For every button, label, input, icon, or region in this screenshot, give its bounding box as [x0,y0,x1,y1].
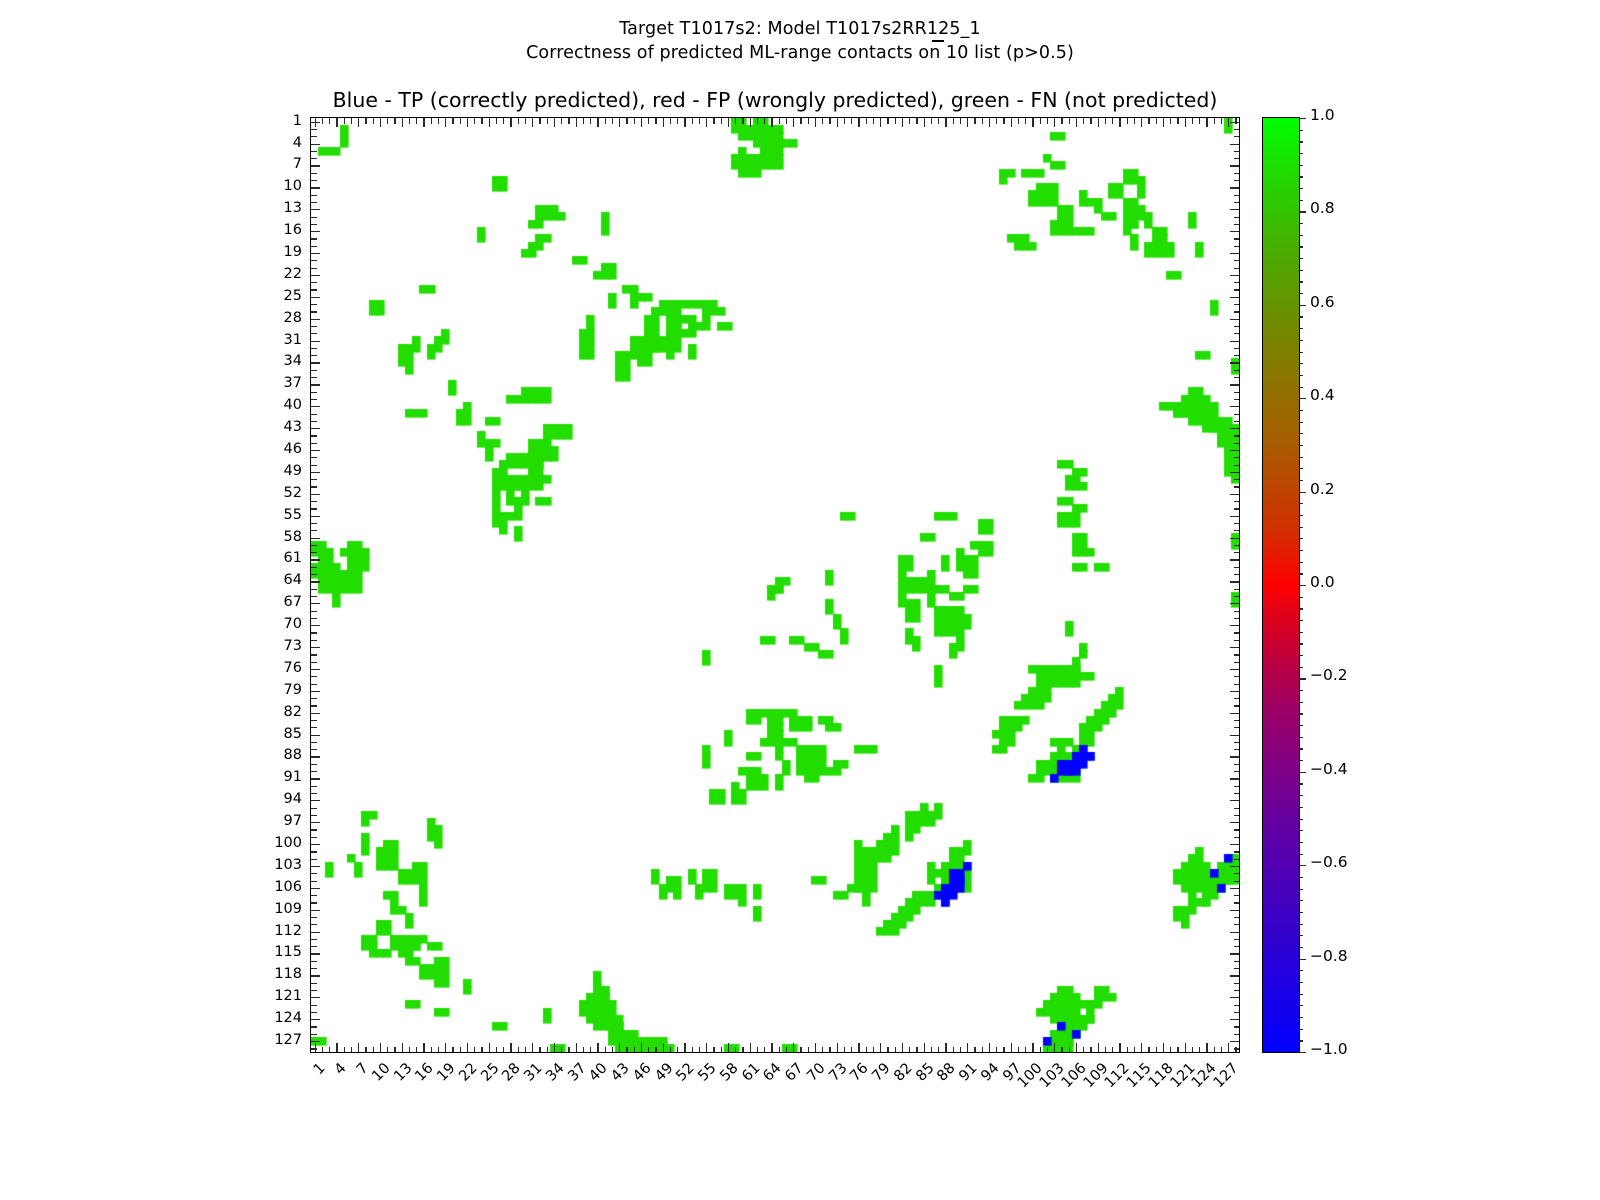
x-tick-top-2 [322,118,323,124]
colorbar-tick-0.2 [1299,492,1306,493]
y-tick-right-99 [1234,837,1240,838]
y-tick-right-42 [1234,421,1240,422]
x-tick-bottom-4 [336,1043,337,1052]
y-tick-right-115 [1230,953,1239,954]
x-tick-bottom-49 [663,1043,664,1052]
y-tick-left-110 [311,917,317,918]
x-tick-bottom-73 [837,1043,838,1052]
y-tick-label-121: 121 [242,989,302,1003]
x-tick-top-3 [329,118,330,124]
x-tick-top-31 [532,118,533,127]
x-tick-top-37 [576,118,577,127]
colorbar-minor-tick [1299,982,1303,983]
colorbar-minor-tick [1299,141,1303,142]
x-tick-top-105 [1069,118,1070,124]
x-tick-bottom-63 [764,1047,765,1053]
x-tick-bottom-6 [351,1047,352,1053]
x-tick-top-122 [1192,118,1193,124]
y-tick-right-38 [1234,392,1240,393]
y-tick-right-127 [1230,1041,1239,1042]
y-tick-left-22 [311,275,320,276]
y-tick-right-118 [1230,975,1239,976]
y-tick-right-83 [1234,720,1240,721]
y-tick-right-57 [1234,530,1240,531]
y-tick-left-81 [311,705,317,706]
x-tick-bottom-106 [1076,1043,1077,1052]
x-tick-bottom-124 [1206,1043,1207,1052]
x-tick-bottom-74 [844,1047,845,1053]
y-tick-right-67 [1230,603,1239,604]
y-tick-right-119 [1234,983,1240,984]
y-tick-right-85 [1230,735,1239,736]
x-tick-bottom-66 [786,1047,787,1053]
x-tick-top-94 [989,118,990,127]
colorbar-minor-tick [1299,363,1303,364]
y-tick-left-18 [311,246,317,247]
y-tick-left-23 [311,282,317,283]
y-tick-label-22: 22 [242,267,302,281]
y-tick-left-99 [311,837,317,838]
y-tick-left-26 [311,304,317,305]
y-tick-right-51 [1234,486,1240,487]
x-tick-top-4 [336,118,337,127]
x-tick-top-109 [1098,118,1099,127]
x-tick-top-41 [605,118,606,124]
x-tick-bottom-35 [561,1047,562,1053]
y-tick-left-60 [311,552,317,553]
y-tick-left-123 [311,1012,317,1013]
y-tick-left-93 [311,793,317,794]
x-tick-top-55 [706,118,707,127]
y-tick-right-89 [1234,764,1240,765]
y-tick-left-25 [311,297,320,298]
y-tick-right-76 [1230,669,1239,670]
contact-map-plot-area[interactable] [310,117,1240,1053]
x-tick-top-7 [358,118,359,127]
colorbar-minor-tick [1299,410,1303,411]
colorbar-minor-tick [1299,935,1303,936]
x-tick-top-36 [568,118,569,124]
y-tick-left-92 [311,786,317,787]
colorbar-minor-tick [1299,877,1303,878]
x-tick-bottom-47 [648,1047,649,1053]
x-tick-bottom-7 [358,1043,359,1052]
colorbar-label-0.8: 0.8 [1310,201,1335,216]
x-tick-top-91 [967,118,968,127]
x-tick-bottom-15 [416,1047,417,1053]
x-tick-bottom-44 [626,1047,627,1053]
y-tick-left-28 [311,319,320,320]
y-tick-left-20 [311,260,317,261]
x-tick-top-10 [380,118,381,127]
y-tick-right-107 [1234,895,1240,896]
y-tick-left-64 [311,581,320,582]
y-tick-left-15 [311,224,317,225]
y-tick-left-16 [311,231,320,232]
y-tick-left-98 [311,829,317,830]
x-tick-top-59 [735,118,736,124]
x-tick-bottom-5 [344,1047,345,1053]
y-tick-label-67: 67 [242,595,302,609]
x-tick-top-111 [1112,118,1113,124]
y-tick-right-72 [1234,640,1240,641]
y-tick-label-46: 46 [242,442,302,456]
x-tick-bottom-51 [677,1047,678,1053]
y-tick-label-52: 52 [242,486,302,500]
x-tick-top-108 [1090,118,1091,124]
y-tick-label-103: 103 [242,858,302,872]
x-tick-top-83 [909,118,910,124]
x-tick-top-78 [873,118,874,124]
x-tick-bottom-121 [1185,1043,1186,1052]
x-tick-bottom-14 [409,1047,410,1053]
x-tick-top-106 [1076,118,1077,127]
y-tick-left-43 [311,428,320,429]
y-tick-left-67 [311,603,320,604]
y-tick-right-110 [1234,917,1240,918]
x-tick-top-34 [554,118,555,127]
y-tick-label-82: 82 [242,705,302,719]
y-tick-left-77 [311,676,317,677]
x-tick-top-81 [895,118,896,124]
x-tick-top-16 [423,118,424,127]
y-tick-right-105 [1234,881,1240,882]
x-tick-top-68 [800,118,801,124]
y-tick-right-62 [1234,567,1240,568]
y-tick-right-65 [1234,589,1240,590]
y-tick-left-30 [311,333,317,334]
x-tick-top-12 [394,118,395,124]
x-tick-top-17 [431,118,432,124]
y-tick-left-75 [311,662,317,663]
y-tick-right-22 [1230,275,1239,276]
y-tick-left-42 [311,421,317,422]
y-tick-right-117 [1234,968,1240,969]
colorbar-minor-tick [1299,550,1303,551]
colorbar-label--0.2: −0.2 [1310,668,1348,683]
y-tick-right-53 [1234,501,1240,502]
y-tick-left-115 [311,953,320,954]
x-tick-bottom-58 [728,1043,729,1052]
y-tick-right-111 [1234,924,1240,925]
y-tick-left-54 [311,508,317,509]
y-tick-left-19 [311,253,320,254]
x-tick-top-75 [851,118,852,124]
colorbar[interactable] [1262,117,1300,1053]
y-tick-right-61 [1230,559,1239,560]
y-tick-left-58 [311,538,320,539]
y-tick-left-41 [311,414,317,415]
x-tick-top-102 [1047,118,1048,124]
colorbar-minor-tick [1299,632,1303,633]
x-tick-bottom-55 [706,1043,707,1052]
y-tick-right-19 [1230,253,1239,254]
x-tick-bottom-102 [1047,1047,1048,1053]
x-tick-top-28 [510,118,511,127]
y-tick-right-29 [1234,326,1240,327]
x-tick-top-118 [1163,118,1164,127]
colorbar-minor-tick [1299,538,1303,539]
y-tick-left-34 [311,362,320,363]
x-tick-bottom-18 [438,1047,439,1053]
colorbar-minor-tick [1299,620,1303,621]
y-tick-right-9 [1234,180,1240,181]
colorbar-minor-tick [1299,900,1303,901]
y-tick-right-98 [1234,829,1240,830]
colorbar-minor-tick [1299,130,1303,131]
y-tick-right-34 [1230,362,1239,363]
x-tick-bottom-42 [612,1047,613,1053]
y-tick-left-59 [311,545,317,546]
colorbar-tick--0.4 [1299,772,1306,773]
x-tick-bottom-101 [1040,1047,1041,1053]
x-tick-bottom-79 [880,1043,881,1052]
x-tick-bottom-83 [909,1047,910,1053]
colorbar-label-0.4: 0.4 [1310,388,1335,403]
y-tick-left-103 [311,866,320,867]
y-tick-left-32 [311,348,317,349]
x-tick-top-87 [938,118,939,124]
y-tick-left-79 [311,691,320,692]
x-tick-top-46 [641,118,642,127]
x-tick-top-114 [1134,118,1135,124]
x-tick-top-73 [837,118,838,127]
colorbar-minor-tick [1299,270,1303,271]
y-tick-right-126 [1234,1034,1240,1035]
x-tick-bottom-61 [750,1043,751,1052]
colorbar-minor-tick [1299,854,1303,855]
y-tick-label-37: 37 [242,376,302,390]
y-tick-left-2 [311,129,317,130]
x-tick-top-67 [793,118,794,127]
y-tick-left-44 [311,435,317,436]
x-tick-top-47 [648,118,649,124]
y-tick-label-97: 97 [242,814,302,828]
y-tick-left-52 [311,494,320,495]
colorbar-minor-tick [1299,608,1303,609]
x-tick-top-71 [822,118,823,124]
y-tick-right-37 [1230,384,1239,385]
colorbar-minor-tick [1299,387,1303,388]
y-tick-left-11 [311,195,317,196]
y-tick-right-100 [1230,844,1239,845]
y-tick-right-116 [1234,961,1240,962]
colorbar-minor-tick [1299,912,1303,913]
colorbar-minor-tick [1299,316,1303,317]
colorbar-label-0.0: 0.0 [1310,575,1335,590]
colorbar-minor-tick [1299,924,1303,925]
y-tick-right-128 [1234,1048,1240,1049]
x-tick-top-113 [1127,118,1128,124]
x-tick-bottom-50 [670,1047,671,1053]
colorbar-minor-tick [1299,188,1303,189]
y-tick-left-104 [311,873,317,874]
y-tick-left-108 [311,902,317,903]
x-tick-top-63 [764,118,765,124]
y-tick-right-24 [1234,289,1240,290]
y-tick-left-126 [311,1034,317,1035]
colorbar-minor-tick [1299,1040,1303,1041]
y-tick-left-121 [311,997,320,998]
x-tick-bottom-56 [713,1047,714,1053]
y-tick-right-81 [1234,705,1240,706]
colorbar-tick--0.6 [1299,865,1306,866]
x-tick-top-82 [902,118,903,127]
y-tick-left-74 [311,654,317,655]
x-tick-bottom-2 [322,1047,323,1053]
x-tick-bottom-85 [924,1043,925,1052]
colorbar-label-1.0: 1.0 [1310,108,1335,123]
y-tick-right-68 [1234,611,1240,612]
y-tick-left-73 [311,647,320,648]
y-tick-right-113 [1234,939,1240,940]
y-tick-right-94 [1230,800,1239,801]
x-tick-bottom-104 [1061,1047,1062,1053]
y-tick-right-82 [1230,713,1239,714]
x-tick-bottom-25 [489,1043,490,1052]
colorbar-minor-tick [1299,153,1303,154]
y-tick-left-27 [311,311,317,312]
x-tick-bottom-70 [815,1043,816,1052]
colorbar-tick-0.0 [1299,585,1306,586]
x-tick-top-33 [547,118,548,124]
y-tick-left-57 [311,530,317,531]
colorbar-minor-tick [1299,970,1303,971]
x-tick-top-32 [539,118,540,124]
y-tick-right-108 [1234,902,1240,903]
y-tick-left-62 [311,567,317,568]
x-tick-top-76 [858,118,859,127]
x-tick-bottom-20 [452,1047,453,1053]
x-tick-bottom-92 [974,1047,975,1053]
x-tick-bottom-16 [423,1043,424,1052]
x-tick-bottom-38 [583,1047,584,1053]
y-tick-label-109: 109 [242,902,302,916]
x-tick-bottom-78 [873,1047,874,1053]
x-tick-top-104 [1061,118,1062,124]
y-tick-left-45 [311,443,317,444]
x-tick-bottom-110 [1105,1047,1106,1053]
x-tick-bottom-108 [1090,1047,1091,1053]
colorbar-label--0.4: −0.4 [1310,762,1348,777]
colorbar-minor-tick [1299,375,1303,376]
y-tick-label-1: 1 [242,114,302,128]
y-tick-right-121 [1230,997,1239,998]
y-tick-right-95 [1234,808,1240,809]
y-tick-right-88 [1230,756,1239,757]
x-tick-bottom-112 [1119,1043,1120,1052]
x-tick-top-65 [779,118,780,124]
x-tick-top-128 [1235,118,1236,124]
y-tick-right-109 [1230,910,1239,911]
x-tick-bottom-82 [902,1043,903,1052]
y-tick-right-31 [1230,341,1239,342]
colorbar-minor-tick [1299,293,1303,294]
colorbar-tick--0.2 [1299,678,1306,679]
x-tick-bottom-65 [779,1047,780,1053]
y-tick-left-113 [311,939,317,940]
y-tick-left-37 [311,384,320,385]
y-tick-right-78 [1234,684,1240,685]
y-tick-label-31: 31 [242,333,302,347]
x-tick-bottom-113 [1127,1047,1128,1053]
colorbar-tick-0.6 [1299,305,1306,306]
y-tick-right-86 [1234,742,1240,743]
y-tick-right-17 [1234,238,1240,239]
y-tick-right-21 [1234,268,1240,269]
y-tick-left-35 [311,370,317,371]
x-tick-top-124 [1206,118,1207,127]
x-tick-bottom-122 [1192,1047,1193,1053]
x-tick-top-126 [1221,118,1222,124]
colorbar-minor-tick [1299,468,1303,469]
y-tick-label-70: 70 [242,617,302,631]
y-tick-right-52 [1230,494,1239,495]
x-tick-top-24 [481,118,482,124]
x-tick-top-95 [996,118,997,124]
y-tick-left-4 [311,144,320,145]
x-tick-bottom-26 [496,1047,497,1053]
y-tick-label-73: 73 [242,639,302,653]
x-tick-top-85 [924,118,925,127]
y-tick-right-23 [1234,282,1240,283]
colorbar-minor-tick [1299,819,1303,820]
x-tick-bottom-24 [481,1047,482,1053]
x-tick-top-29 [518,118,519,124]
x-tick-top-42 [612,118,613,124]
x-tick-bottom-100 [1032,1043,1033,1052]
y-tick-left-66 [311,596,317,597]
x-tick-top-20 [452,118,453,124]
y-tick-left-124 [311,1019,320,1020]
y-tick-right-25 [1230,297,1239,298]
colorbar-minor-tick [1299,281,1303,282]
colorbar-minor-tick [1299,503,1303,504]
y-tick-left-6 [311,158,317,159]
x-tick-bottom-41 [605,1047,606,1053]
colorbar-minor-tick [1299,947,1303,948]
colorbar-label--0.8: −0.8 [1310,949,1348,964]
y-tick-left-56 [311,523,317,524]
y-tick-left-86 [311,742,317,743]
x-tick-top-6 [351,118,352,124]
y-tick-left-83 [311,720,317,721]
colorbar-minor-tick [1299,176,1303,177]
y-tick-right-41 [1234,414,1240,415]
y-tick-left-109 [311,910,320,911]
y-tick-right-10 [1230,187,1239,188]
y-tick-label-61: 61 [242,551,302,565]
x-tick-bottom-9 [373,1047,374,1053]
x-tick-bottom-29 [518,1047,519,1053]
x-tick-top-92 [974,118,975,124]
contact-map-matrix[interactable] [311,118,1239,1052]
x-tick-bottom-13 [402,1043,403,1052]
x-tick-top-101 [1040,118,1041,124]
y-tick-left-31 [311,341,320,342]
x-tick-top-27 [503,118,504,124]
y-tick-right-36 [1234,377,1240,378]
x-tick-top-125 [1214,118,1215,124]
x-tick-bottom-52 [684,1043,685,1052]
x-tick-top-43 [619,118,620,127]
y-tick-label-88: 88 [242,748,302,762]
x-tick-bottom-31 [532,1043,533,1052]
y-tick-left-114 [311,946,317,947]
x-tick-top-49 [663,118,664,127]
colorbar-minor-tick [1299,1029,1303,1030]
y-tick-label-124: 124 [242,1011,302,1025]
